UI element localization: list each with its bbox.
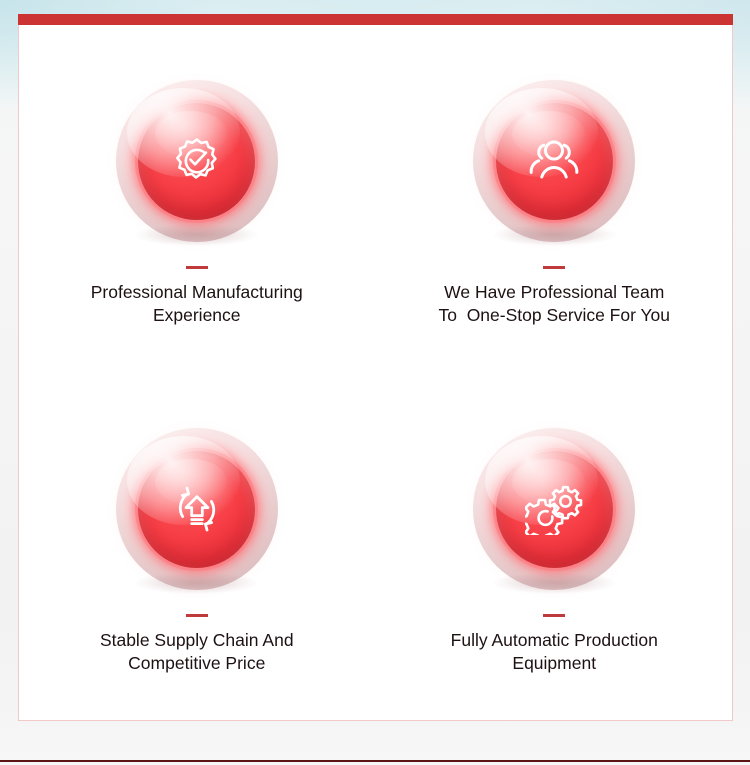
icon-orb-core — [138, 451, 255, 568]
feature-item-automatic-production[interactable]: Fully Automatic Production Equipment — [376, 373, 734, 721]
caption-dash — [186, 614, 208, 617]
quality-badge-check-icon — [171, 135, 223, 187]
icon-orb-core — [496, 451, 613, 568]
feature-caption: We Have Professional Team To One-Stop Se… — [404, 281, 704, 327]
caption-dash — [186, 266, 208, 269]
caption-dash — [543, 614, 565, 617]
feature-item-professional-manufacturing[interactable]: Professional Manufacturing Experience — [18, 25, 376, 373]
team-people-group-icon — [526, 135, 582, 187]
icon-orb — [473, 428, 635, 590]
icon-orb-core — [496, 103, 613, 220]
feature-item-professional-team[interactable]: We Have Professional Team To One-Stop Se… — [376, 25, 734, 373]
supply-chain-cycle-arrow-icon — [170, 482, 224, 536]
bottom-divider-rule — [0, 760, 750, 762]
icon-orb — [473, 80, 635, 242]
card-top-red-bar — [18, 14, 733, 25]
feature-caption: Professional Manufacturing Experience — [47, 281, 347, 327]
feature-grid: Professional Manufacturing Experience — [18, 25, 733, 721]
icon-orb — [116, 428, 278, 590]
feature-caption: Stable Supply Chain And Competitive Pric… — [47, 629, 347, 675]
gears-cogs-icon — [525, 483, 583, 535]
page-root: Professional Manufacturing Experience — [0, 0, 750, 765]
icon-orb — [116, 80, 278, 242]
feature-caption: Fully Automatic Production Equipment — [404, 629, 704, 675]
icon-orb-core — [138, 103, 255, 220]
feature-item-stable-supply-chain[interactable]: Stable Supply Chain And Competitive Pric… — [18, 373, 376, 721]
caption-dash — [543, 266, 565, 269]
